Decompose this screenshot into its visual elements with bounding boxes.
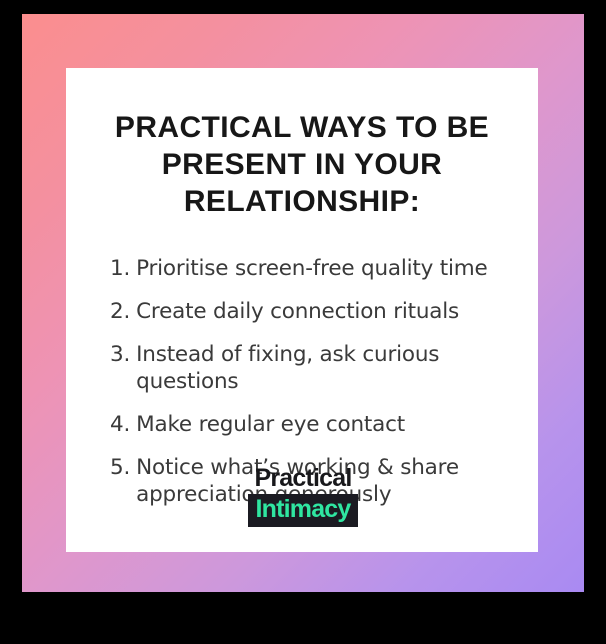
list-item: 2. Create daily connection rituals <box>110 298 516 325</box>
list-item: 4. Make regular eye contact <box>110 411 516 438</box>
list-item-text: Make regular eye contact <box>136 411 516 438</box>
page-title: PRACTICAL WAYS TO BE PRESENT IN YOUR REL… <box>66 68 538 221</box>
list-item-number: 4. <box>110 411 130 438</box>
gradient-background: PRACTICAL WAYS TO BE PRESENT IN YOUR REL… <box>22 14 584 592</box>
logo-word-intimacy: Intimacy <box>255 497 350 522</box>
poster-frame: PRACTICAL WAYS TO BE PRESENT IN YOUR REL… <box>0 0 606 644</box>
brand-logo: Practical Intimacy <box>22 466 584 527</box>
list-item-text: Instead of fixing, ask curious questions <box>136 341 516 395</box>
list-item-number: 3. <box>110 341 130 368</box>
list-item-text: Prioritise screen-free quality time <box>136 255 516 282</box>
list-item: 3. Instead of fixing, ask curious questi… <box>110 341 516 395</box>
list-item-text: Create daily connection rituals <box>136 298 516 325</box>
list-item: 1. Prioritise screen-free quality time <box>110 255 516 282</box>
logo-word-practical: Practical <box>254 466 351 491</box>
list-item-number: 2. <box>110 298 130 325</box>
list-item-number: 1. <box>110 255 130 282</box>
logo-highlight-box: Intimacy <box>248 494 357 527</box>
